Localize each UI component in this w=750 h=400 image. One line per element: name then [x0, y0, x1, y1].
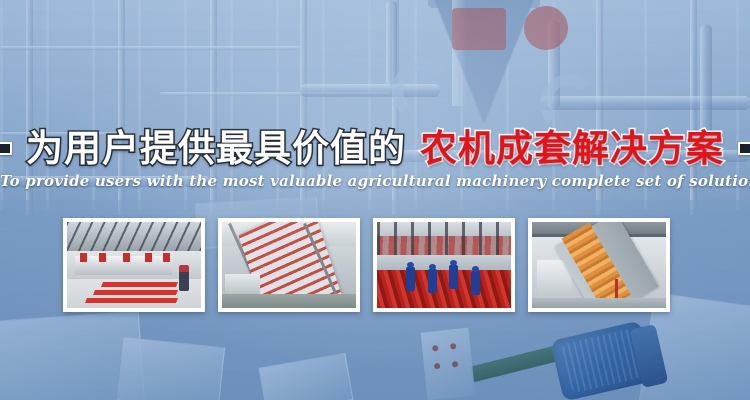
thumbnail-2[interactable]: [218, 218, 360, 312]
thumbnail-2-image: [222, 222, 356, 308]
headline-white-text: 为用户提供最具价值的: [26, 130, 406, 167]
subtitle-text: To provide users with the most valuable …: [0, 172, 750, 190]
thumbnail-1-image: [67, 222, 201, 308]
thumbnail-3[interactable]: [373, 218, 515, 312]
left-dash-ornament: [0, 142, 12, 155]
background-photo: [0, 0, 750, 400]
headline-red-text: 农机成套解决方案: [420, 130, 724, 167]
hero-banner: 为用户提供最具价值的 农机成套解决方案 To provide users wit…: [0, 0, 750, 400]
thumbnail-1[interactable]: [63, 218, 205, 312]
haze-overlay: [0, 0, 750, 400]
right-dash-ornament: [738, 142, 750, 155]
background-factory-scene: [0, 0, 750, 400]
thumbnail-4-image: [532, 222, 666, 308]
thumbnail-3-image: [377, 222, 511, 308]
thumbnail-4[interactable]: [528, 218, 670, 312]
thumbnail-strip: [63, 218, 687, 312]
headline-row: 为用户提供最具价值的 农机成套解决方案: [0, 124, 750, 172]
